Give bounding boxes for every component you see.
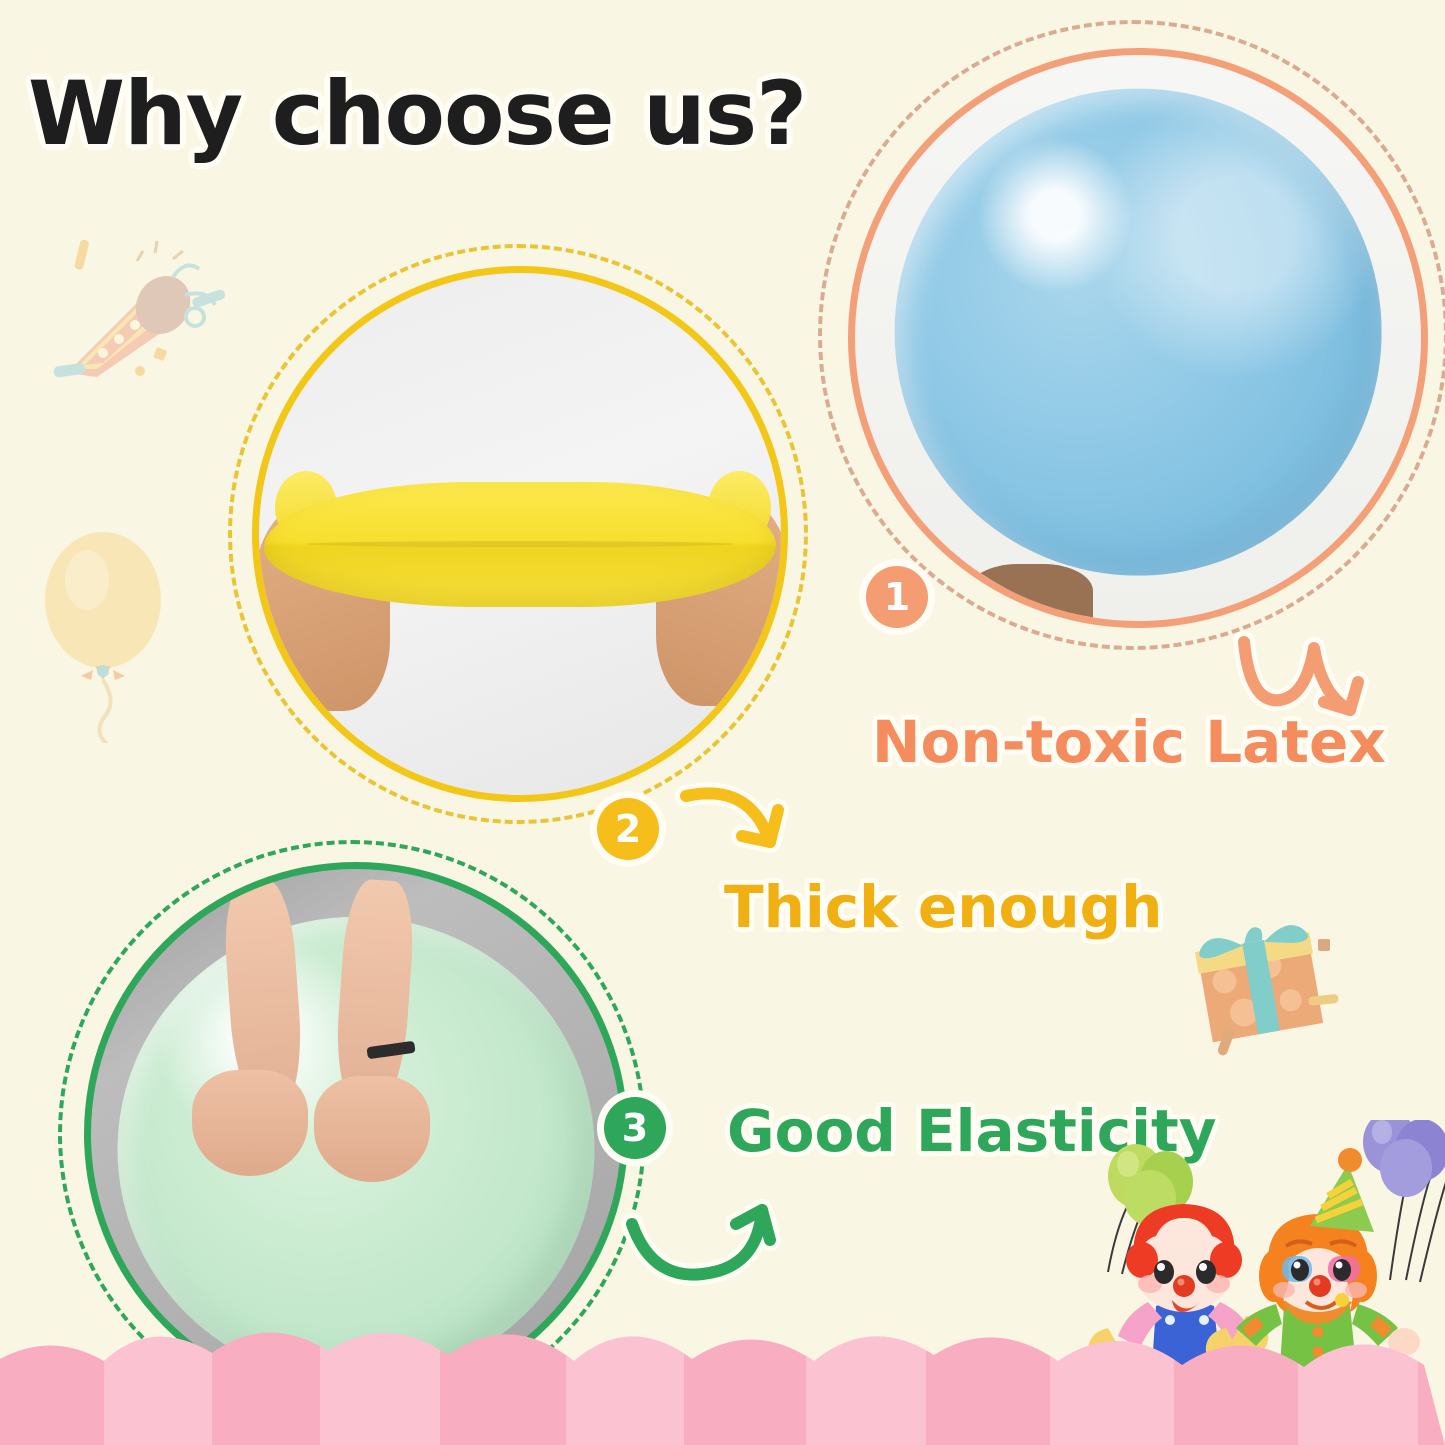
feature-label-non-toxic-latex: Non-toxic Latex xyxy=(872,708,1386,776)
hand-under-balloon xyxy=(968,564,1093,628)
page-title: Why choose us? xyxy=(28,62,806,165)
party-popper-icon xyxy=(45,225,235,385)
feature-badge-3: 3 xyxy=(604,1097,666,1159)
curved-up-arrow-icon xyxy=(618,1186,808,1316)
blue-balloon xyxy=(895,89,1382,576)
right-hand xyxy=(314,1076,431,1182)
yellow-balloon-stretch-photo xyxy=(252,266,788,802)
blue-balloon-photo xyxy=(848,48,1428,628)
feature-label-thick-enough: Thick enough xyxy=(724,873,1162,941)
pink-scallop-wave xyxy=(0,1315,1445,1445)
left-hand xyxy=(192,1070,309,1176)
stretched-yellow-latex xyxy=(264,482,776,607)
balloon-icon xyxy=(35,528,185,743)
purple-balloon-bunch-icon xyxy=(1363,1120,1445,1282)
feature-badge-2: 2 xyxy=(597,798,659,860)
feature-badge-1: 1 xyxy=(866,566,928,628)
gift-box-icon xyxy=(1180,905,1345,1065)
infographic-canvas: Why choose us? xyxy=(0,0,1445,1445)
